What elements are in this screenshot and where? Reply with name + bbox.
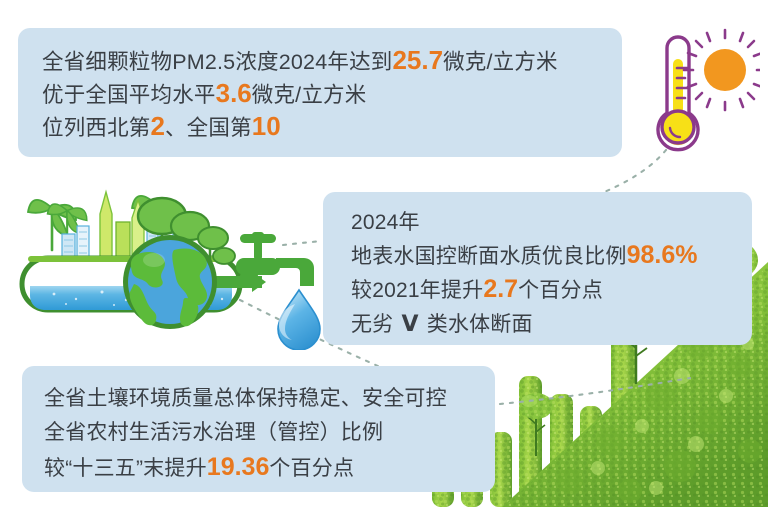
text-segment: 全省农村生活污水治理（管控）比例 [44,421,383,444]
callout-line: 地表水国控断面水质优良比例98.6% [351,239,752,273]
faucet-icon [236,232,314,288]
text-segment: 位列西北第 [42,116,151,140]
thermometer-and-sun-icon [648,28,760,160]
callout-line: 优于全国平均水平3.6微克/立方米 [42,78,622,111]
text-segment: 、全国第 [165,116,252,140]
text-segment: 较“十三五”末提升 [44,457,207,480]
text-segment: 个百分点 [518,279,603,302]
callout-line: 全省土壤环境质量总体保持稳定、安全可控 [44,382,495,416]
text-segment: 优于全国平均水平 [42,83,216,107]
text-segment: 个百分点 [269,457,354,480]
highlight-value: 25.7 [392,45,443,75]
sun-icon [684,30,760,110]
highlight-value: 98.6% [627,241,698,269]
text-segment: 全省土壤环境质量总体保持稳定、安全可控 [44,387,447,410]
callout-air-quality: 全省细颗粒物PM2.5浓度2024年达到25.7微克/立方米 优于全国平均水平3… [18,28,622,157]
text-segment: 微克/立方米 [252,83,367,107]
text-segment: 较2021年提升 [351,279,483,302]
roman-numeral-five: Ⅴ [399,311,420,336]
text-segment: 类水体断面 [421,313,533,336]
text-segment: 无劣 [351,313,399,336]
callout-line: 较2021年提升2.7个百分点 [351,273,752,307]
callout-soil-quality: 全省土壤环境质量总体保持稳定、安全可控 全省农村生活污水治理（管控）比例 较“十… [22,366,495,492]
highlight-value: 2 [151,111,165,141]
callout-line: 2024年 [351,206,752,239]
text-segment: 2024年 [351,211,420,234]
highlight-value: 2.7 [483,275,518,303]
text-segment: 微克/立方米 [443,50,558,74]
infographic-canvas: 全省细颗粒物PM2.5浓度2024年达到25.7微克/立方米 优于全国平均水平3… [0,0,768,507]
earth-globe-icon [123,235,217,329]
water-droplet-icon [278,290,320,350]
callout-line: 位列西北第2、全国第10 [42,111,622,144]
highlight-value: 3.6 [216,78,252,108]
text-segment: 全省细颗粒物PM2.5浓度2024年达到 [42,50,392,74]
highlight-value: 19.36 [207,453,270,481]
callout-line: 全省农村生活污水治理（管控）比例 [44,416,495,450]
callout-line: 较“十三五”末提升19.36个百分点 [44,450,495,486]
callout-line: 全省细颗粒物PM2.5浓度2024年达到25.7微克/立方米 [42,45,622,78]
callout-water-quality: 2024年 地表水国控断面水质优良比例98.6% 较2021年提升2.7个百分点… [323,192,752,345]
text-segment: 地表水国控断面水质优良比例 [351,245,627,268]
highlight-value: 10 [252,111,281,141]
callout-line: 无劣 Ⅴ 类水体断面 [351,307,752,341]
eco-city-globe-faucet-illustration [14,178,324,350]
